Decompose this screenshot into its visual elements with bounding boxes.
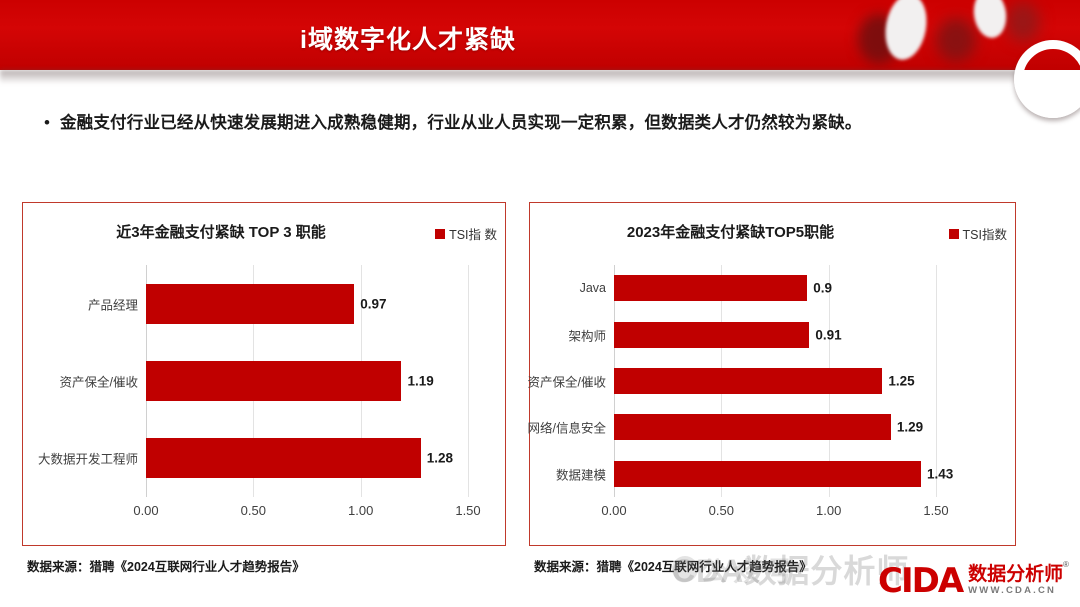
bar[interactable] — [146, 361, 401, 401]
cda-logo-text: 数据分析师 WWW.CDA.CN — [968, 565, 1063, 596]
x-axis-tick-label: 1.00 — [816, 503, 841, 518]
banner-shadow — [0, 70, 1020, 84]
chart-legend-right: TSI指数 — [949, 224, 1007, 243]
bar[interactable] — [146, 438, 421, 478]
bar-category-label: 数据建模 — [556, 464, 606, 483]
chart-xaxis-right: 0.000.501.001.50 — [614, 499, 936, 521]
bar-value-label: 1.43 — [921, 466, 953, 481]
bar-row: 数据建模1.43 — [614, 461, 936, 487]
bar-category-label: 产品经理 — [88, 294, 138, 313]
bar-value-label: 0.9 — [807, 281, 832, 296]
chart-plot-area-left: 产品经理0.97资产保全/催收1.19大数据开发工程师1.28 — [146, 265, 468, 497]
bar-value-label: 0.91 — [809, 327, 841, 342]
legend-swatch-icon — [435, 229, 445, 239]
x-axis-tick-label: 0.50 — [241, 503, 266, 518]
registered-trademark-icon: ® — [1063, 560, 1069, 569]
bar-value-label: 1.25 — [882, 374, 914, 389]
bar[interactable] — [614, 414, 891, 440]
header-banner: i域数字化人才紧缺 — [0, 0, 1080, 70]
bar-row: Java0.9 — [614, 275, 936, 301]
banner-decor-dark-2 — [936, 18, 976, 62]
chart-plot-area-right: Java0.9架构师0.91资产保全/催收1.25网络/信息安全1.29数据建模… — [614, 265, 936, 497]
bar[interactable] — [614, 368, 882, 394]
bullet-point: • 金融支付行业已经从快速发展期进入成熟稳健期，行业从业人员实现一定积累，但数据… — [44, 112, 1054, 134]
bar-category-label: 资产保全/催收 — [60, 372, 138, 391]
chart-card-left: 近3年金融支付紧缺 TOP 3 职能 TSI指 数 产品经理0.97资产保全/催… — [22, 202, 506, 546]
bar-row: 大数据开发工程师1.28 — [146, 438, 468, 478]
chart-legend-left: TSI指 数 — [435, 224, 497, 243]
x-axis-tick-label: 1.50 — [923, 503, 948, 518]
bar-category-label: Java — [580, 281, 606, 295]
bar-category-label: 架构师 — [568, 325, 606, 344]
legend-label: TSI指数 — [963, 224, 1007, 243]
x-axis-tick-label: 1.50 — [455, 503, 480, 518]
bar-value-label: 1.19 — [401, 374, 433, 389]
chart-card-right: 2023年金融支付紧缺TOP5职能 TSI指数 Java0.9架构师0.91资产… — [529, 202, 1016, 546]
watermark-brand: CDA数据分析师 — [672, 546, 909, 592]
legend-swatch-icon — [949, 229, 959, 239]
bar-row: 网络/信息安全1.29 — [614, 414, 936, 440]
bullet-marker-icon: • — [44, 112, 50, 134]
bar-category-label: 网络/信息安全 — [528, 418, 606, 437]
bar-value-label: 1.28 — [421, 451, 453, 466]
bar[interactable] — [614, 275, 807, 301]
bar[interactable] — [614, 322, 809, 348]
cda-logo-name: 数据分析师 — [968, 565, 1063, 585]
legend-label: TSI指 数 — [449, 224, 497, 243]
banner-decor-blob-2 — [971, 0, 1009, 40]
slide-root: i域数字化人才紧缺 • 金融支付行业已经从快速发展期进入成熟稳健期，行业从业人员… — [0, 0, 1080, 607]
bar-row: 资产保全/催收1.25 — [614, 368, 936, 394]
bar-row: 产品经理0.97 — [146, 284, 468, 324]
cda-logo: CIDA 数据分析师 WWW.CDA.CN — [878, 565, 1063, 596]
gridline — [468, 265, 469, 497]
chart-title-left: 近3年金融支付紧缺 TOP 3 职能 — [23, 221, 505, 242]
bullet-text: 金融支付行业已经从快速发展期进入成熟稳健期，行业从业人员实现一定积累，但数据类人… — [60, 112, 862, 134]
bar[interactable] — [614, 461, 921, 487]
bar-value-label: 1.29 — [891, 420, 923, 435]
cda-logo-mark: CIDA — [878, 566, 962, 596]
page-title: i域数字化人才紧缺 — [300, 20, 516, 56]
source-note-left: 数据来源：猎聘《2024互联网行业人才趋势报告》 — [27, 556, 305, 575]
chart-xaxis-left: 0.000.501.001.50 — [146, 499, 468, 521]
x-axis-tick-label: 1.00 — [348, 503, 373, 518]
x-axis-tick-label: 0.00 — [133, 503, 158, 518]
bar-category-label: 大数据开发工程师 — [38, 449, 138, 468]
cda-logo-url: WWW.CDA.CN — [968, 585, 1063, 596]
bar-value-label: 0.97 — [354, 296, 386, 311]
x-axis-tick-label: 0.00 — [601, 503, 626, 518]
chart-title-right: 2023年金融支付紧缺TOP5职能 — [530, 221, 1015, 242]
bar-row: 资产保全/催收1.19 — [146, 361, 468, 401]
x-axis-tick-label: 0.50 — [709, 503, 734, 518]
bar[interactable] — [146, 284, 354, 324]
gridline — [936, 265, 937, 497]
banner-decor-dark-3 — [1006, 2, 1040, 42]
bar-row: 架构师0.91 — [614, 322, 936, 348]
banner-corner-mask — [1020, 70, 1080, 92]
bar-category-label: 资产保全/催收 — [528, 372, 606, 391]
